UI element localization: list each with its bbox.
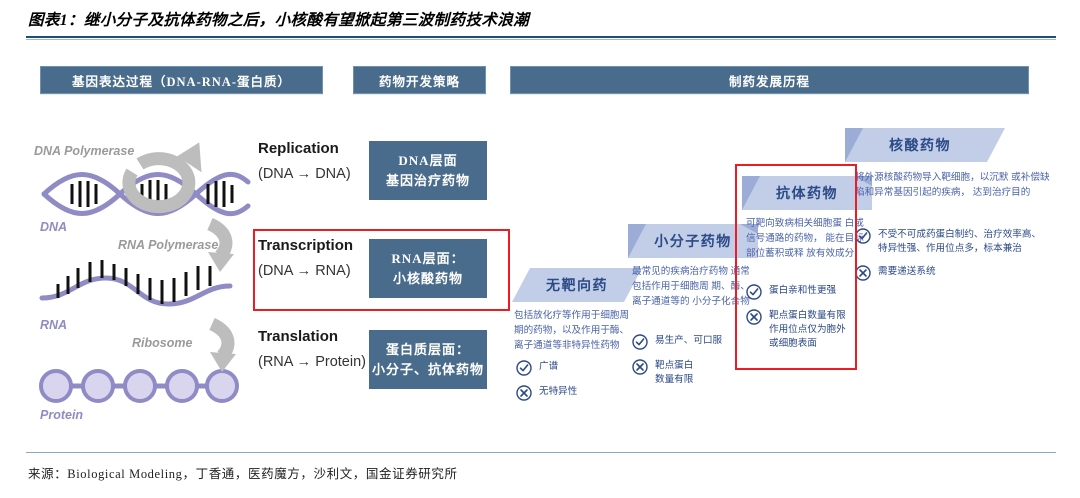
step-nucleic-acid-drug: 核酸药物 将外源核酸药物导入靶细胞，以沉默 或补偿缺陷和异常基因引起的疾病， 达… [845,128,1045,288]
bullet-item: 需要递送系统 [855,265,1055,281]
check-circle-icon [516,360,532,376]
drug-box-dna-layer: DNA层面 基因治疗药物 [369,141,487,200]
source-divider [26,452,1056,453]
central-dogma-diagram: DNA Polymerase RNA Polymerase Ribosome D… [22,128,272,424]
stage-flow: (RNA → Protein) [258,354,378,370]
bullet-text: 无特异性 [539,385,577,399]
drug-box-protein-layer: 蛋白质层面： 小分子、抗体药物 [369,330,487,389]
translation-arrow-icon [210,324,236,372]
label-dna: DNA [40,220,67,234]
step-bullet-list: 不受不可成药蛋白制约、治疗效率高、 特异性强、作用位点多，标本兼治 需要递送系统 [855,228,1055,290]
cross-circle-icon [516,385,532,401]
label-dna-polymerase: DNA Polymerase [34,144,134,158]
bullet-text: 易生产、可口服 [655,334,722,348]
cross-circle-icon [632,359,648,375]
step-banner: 无靶向药 [512,268,642,302]
protein-chain-icon [41,371,237,401]
step-banner: 核酸药物 [845,128,1005,162]
highlight-box-transcription [253,229,510,311]
title-divider-secondary [26,39,1056,40]
stage-name: Replication [258,140,378,157]
stage-replication: Replication (DNA → DNA) [258,140,378,182]
drug-box-line1: DNA层面 [398,151,457,171]
page-title: 图表1：继小分子及抗体药物之后，小核酸有望掀起第三波制药技术浪潮 [28,8,1048,36]
drug-box-line2: 小分子、抗体药物 [372,360,484,380]
highlight-box-antibody-step [735,164,857,370]
stage-translation: Translation (RNA → Protein) [258,328,378,370]
source-note: 来源：Biological Modeling，丁香通，医药魔方，沙利文，国金证券… [28,463,458,482]
bullet-text: 需要递送系统 [878,265,936,279]
dogma-svg [22,128,272,424]
label-rna: RNA [40,318,67,332]
bullet-text: 不受不可成药蛋白制约、治疗效率高、 特异性强、作用位点多，标本兼治 [878,228,1041,256]
label-rna-polymerase: RNA Polymerase [118,238,218,252]
bullet-item: 广谱 [516,360,636,376]
cross-circle-icon [855,265,871,281]
section-header-pharma-history: 制药发展历程 [510,66,1029,94]
check-circle-icon [855,228,871,244]
section-header-drug-strategy: 药物开发策略 [353,66,486,94]
step-bullet-list: 广谱 无特异性 [516,360,636,410]
section-header-gene-expression: 基因表达过程（DNA-RNA-蛋白质） [40,66,323,94]
check-circle-icon [632,334,648,350]
bullet-text: 广谱 [539,360,558,374]
step-no-target-drug: 无靶向药 包括放化疗等作用于细胞周 期的药物，以及作用于酶、 离子通道等非特异性… [512,268,640,418]
stage-name: Translation [258,328,378,345]
bullet-item: 无特异性 [516,385,636,401]
drug-box-line2: 基因治疗药物 [386,171,470,191]
bullet-item: 不受不可成药蛋白制约、治疗效率高、 特异性强、作用位点多，标本兼治 [855,228,1055,256]
drug-box-line1: 蛋白质层面： [386,340,470,360]
bullet-text: 靶点蛋白 数量有限 [655,359,693,387]
stage-flow: (DNA → DNA) [258,166,378,182]
label-ribosome: Ribosome [132,336,192,350]
figure-canvas: 图表1：继小分子及抗体药物之后，小核酸有望掀起第三波制药技术浪潮 基因表达过程（… [0,0,1080,498]
step-description: 包括放化疗等作用于细胞周 期的药物，以及作用于酶、 离子通道等非特异性药物 [514,308,638,353]
label-protein: Protein [40,408,83,422]
rna-strand-icon [42,260,230,304]
step-description: 将外源核酸药物导入靶细胞，以沉默 或补偿缺陷和异常基因引起的疾病， 达到治疗目的 [855,170,1055,200]
